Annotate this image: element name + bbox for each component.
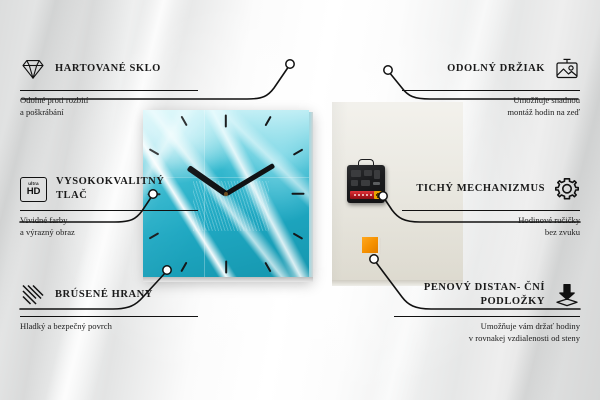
battery-plus-terminal xyxy=(374,191,382,199)
feature-title: HARTOVANÉ SKLO xyxy=(55,62,161,76)
battery-label xyxy=(354,194,374,196)
mechanism-detail xyxy=(373,182,380,185)
mechanism-detail xyxy=(361,180,370,186)
mechanism-detail xyxy=(351,180,358,186)
infographic-canvas: HARTOVANÉ SKLO Odolné proti rozbití a po… xyxy=(0,0,600,400)
feature-divider xyxy=(20,210,198,211)
diamond-icon xyxy=(20,56,46,82)
battery xyxy=(350,191,381,199)
feature-description: Vividné farby a výrazný obraz xyxy=(20,215,198,238)
picture-hanger-icon xyxy=(554,56,580,82)
feature-high-quality-print: ultra HD VYSOKOKVALITNÝ TLAČ Vividné far… xyxy=(20,172,198,238)
feature-foam-spacers: PENOVÝ DISTAN- ČNÍ PODLOŽKY Umožňuje vám… xyxy=(394,278,580,344)
clock-edge-right xyxy=(309,112,313,282)
mechanism-body xyxy=(347,165,385,203)
feature-header: TICHÝ MECHANIZMUS xyxy=(402,172,580,206)
mechanism-detail xyxy=(364,170,372,176)
badge-hd-label: HD xyxy=(27,187,40,197)
feature-header: PENOVÝ DISTAN- ČNÍ PODLOŽKY xyxy=(394,278,580,312)
clock-tick xyxy=(225,261,227,274)
feature-divider xyxy=(394,316,580,317)
face-panel-block xyxy=(143,110,204,177)
feature-tempered-glass: HARTOVANÉ SKLO Odolné proti rozbití a po… xyxy=(20,52,198,118)
feature-durable-hanger: ODOLNÝ DRŽIAK Umožňuje snadnou montáž ho… xyxy=(402,52,580,118)
ultra-hd-badge-icon: ultra HD xyxy=(20,177,47,202)
feature-header: ODOLNÝ DRŽIAK xyxy=(402,52,580,86)
feature-silent-mechanism: TICHÝ MECHANIZMUS Hodinové ručičky bez z… xyxy=(402,172,580,238)
clock-mechanism xyxy=(347,165,385,203)
feature-header: ultra HD VYSOKOKVALITNÝ TLAČ xyxy=(20,172,198,206)
feature-description: Hodinové ručičky bez zvuku xyxy=(402,215,580,238)
feature-title: TICHÝ MECHANIZMUS xyxy=(416,182,545,196)
clock-center-pin xyxy=(224,192,228,196)
ground-edges-icon xyxy=(20,282,46,308)
mechanism-detail xyxy=(374,170,380,179)
feature-description: Odolné proti rozbití a poškrábání xyxy=(20,95,198,118)
feature-divider xyxy=(402,90,580,91)
feature-description: Hladký a bezpečný povrch xyxy=(20,321,198,333)
foam-spacer-pad xyxy=(362,237,381,256)
feature-header: HARTOVANÉ SKLO xyxy=(20,52,198,86)
feature-title: BRÚSENÉ HRANY xyxy=(55,288,153,302)
foam-spacer-icon xyxy=(554,282,580,308)
feature-description: Umožňuje snadnou montáž hodin na zeď xyxy=(402,95,580,118)
mechanism-detail xyxy=(351,170,361,177)
feature-header: BRÚSENÉ HRANY xyxy=(20,278,198,312)
feature-description: Umožňuje vám držať hodiny v rovnakej vzd… xyxy=(394,321,580,344)
gear-icon xyxy=(554,176,580,202)
feature-divider xyxy=(402,210,580,211)
feature-divider xyxy=(20,316,198,317)
feature-title: ODOLNÝ DRŽIAK xyxy=(447,62,545,76)
feature-title: PENOVÝ DISTAN- ČNÍ PODLOŽKY xyxy=(394,281,545,309)
feature-title: VYSOKOKVALITNÝ TLAČ xyxy=(56,175,198,203)
feature-divider xyxy=(20,90,198,91)
feature-ground-edges: BRÚSENÉ HRANY Hladký a bezpečný povrch xyxy=(20,278,198,333)
foam-pad-top xyxy=(362,237,378,253)
